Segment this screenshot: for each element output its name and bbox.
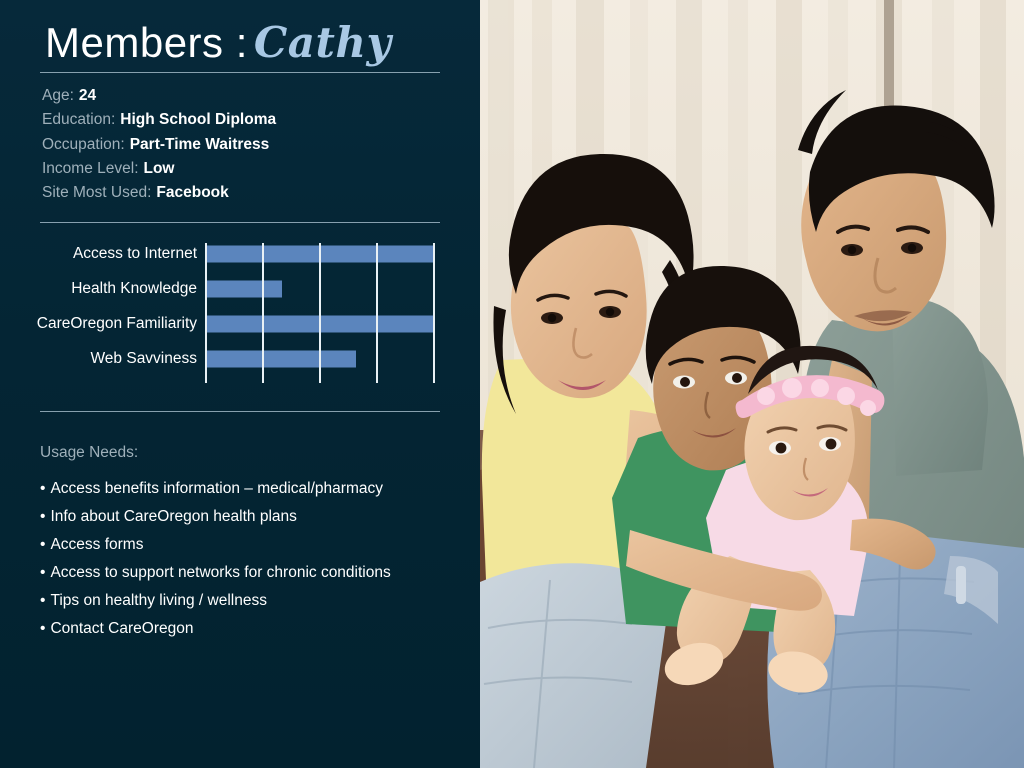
list-item: •Tips on healthy living / wellness bbox=[40, 587, 470, 615]
chart-bar bbox=[205, 350, 356, 367]
page-title-name: Cathy bbox=[254, 18, 391, 67]
chart-bar-track bbox=[205, 341, 433, 376]
list-item: •Contact CareOregon bbox=[40, 615, 470, 643]
divider-below-chart bbox=[40, 411, 440, 412]
chart-row: CareOregon Familiarity bbox=[0, 306, 480, 341]
usage-needs-section: Usage Needs: •Access benefits informatio… bbox=[40, 444, 470, 643]
bullet-icon: • bbox=[40, 620, 45, 637]
demographic-label: Occupation: bbox=[42, 136, 125, 153]
demographic-row: Site Most Used:Facebook bbox=[42, 181, 462, 205]
chart-category-label: CareOregon Familiarity bbox=[0, 315, 205, 333]
attributes-bar-chart: Access to Internet Health Knowledge Care… bbox=[0, 236, 480, 391]
demographic-row: Income Level:Low bbox=[42, 157, 462, 181]
list-item: •Access forms bbox=[40, 531, 470, 559]
demographics-list: Age:24 Education:High School Diploma Occ… bbox=[42, 84, 462, 205]
chart-bar-track bbox=[205, 271, 433, 306]
chart-row: Health Knowledge bbox=[0, 271, 480, 306]
demographic-label: Site Most Used: bbox=[42, 184, 151, 201]
bullet-icon: • bbox=[40, 536, 45, 553]
demographic-row: Occupation:Part-Time Waitress bbox=[42, 133, 462, 157]
divider-above-chart bbox=[40, 222, 440, 223]
demographic-label: Education: bbox=[42, 111, 115, 128]
chart-bar bbox=[205, 245, 433, 262]
page-title-prefix: Members : bbox=[45, 19, 248, 66]
chart-row: Access to Internet bbox=[0, 236, 480, 271]
bullet-icon: • bbox=[40, 564, 45, 581]
list-item-label: Access to support networks for chronic c… bbox=[50, 564, 390, 581]
chart-row: Web Savviness bbox=[0, 341, 480, 376]
divider-under-title bbox=[40, 72, 440, 73]
list-item-label: Info about CareOregon health plans bbox=[50, 508, 296, 525]
list-item-label: Access benefits information – medical/ph… bbox=[50, 480, 383, 497]
chart-category-label: Health Knowledge bbox=[0, 280, 205, 298]
demographic-value: 24 bbox=[79, 87, 96, 104]
demographic-row: Age:24 bbox=[42, 84, 462, 108]
bullet-icon: • bbox=[40, 508, 45, 525]
page-title: Members :Cathy bbox=[45, 18, 391, 67]
list-item-label: Tips on healthy living / wellness bbox=[50, 592, 267, 609]
chart-category-label: Web Savviness bbox=[0, 350, 205, 368]
left-content-panel: Members :Cathy Age:24 Education:High Sch… bbox=[0, 0, 480, 768]
list-item-label: Contact CareOregon bbox=[50, 620, 193, 637]
list-item: •Access benefits information – medical/p… bbox=[40, 475, 470, 503]
chart-bar bbox=[205, 280, 282, 297]
demographic-value: Part-Time Waitress bbox=[130, 136, 270, 153]
demographic-label: Income Level: bbox=[42, 160, 139, 177]
demographic-value: High School Diploma bbox=[120, 111, 276, 128]
usage-needs-heading: Usage Needs: bbox=[40, 444, 470, 462]
chart-bar-track bbox=[205, 236, 433, 271]
list-item-label: Access forms bbox=[50, 536, 143, 553]
demographic-label: Age: bbox=[42, 87, 74, 104]
chart-bar-track bbox=[205, 306, 433, 341]
portrait-illustration bbox=[480, 0, 1024, 768]
chart-bar bbox=[205, 315, 433, 332]
bullet-icon: • bbox=[40, 592, 45, 609]
family-portrait-photo bbox=[480, 0, 1024, 768]
list-item: •Info about CareOregon health plans bbox=[40, 503, 470, 531]
demographic-value: Facebook bbox=[156, 184, 228, 201]
demographic-row: Education:High School Diploma bbox=[42, 108, 462, 132]
chart-category-label: Access to Internet bbox=[0, 245, 205, 263]
demographic-value: Low bbox=[144, 160, 175, 177]
slide-canvas: Members :Cathy Age:24 Education:High Sch… bbox=[0, 0, 1024, 768]
list-item: •Access to support networks for chronic … bbox=[40, 559, 470, 587]
bullet-icon: • bbox=[40, 480, 45, 497]
